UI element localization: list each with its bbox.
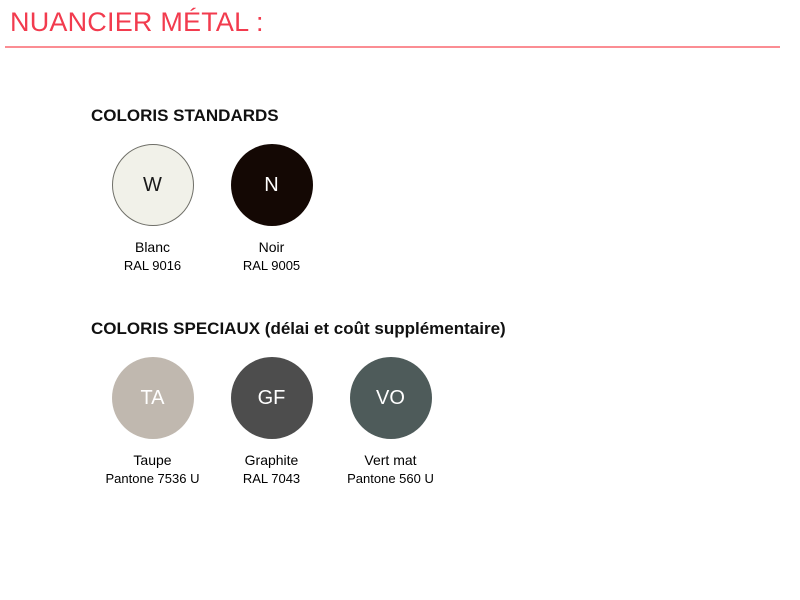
swatch-reference: RAL 9016 xyxy=(124,258,181,274)
page-header: NUANCIER MÉTAL : xyxy=(0,0,800,50)
swatch-disc: VO xyxy=(350,357,432,439)
swatch-reference: RAL 7043 xyxy=(243,471,300,487)
swatch-disc: GF xyxy=(231,357,313,439)
swatch-code-letter: TA xyxy=(140,388,164,408)
section-coloris-standards: COLORIS STANDARDS WBlancRAL 9016NNoirRAL… xyxy=(0,105,800,274)
swatch-disc: N xyxy=(231,144,313,226)
color-swatch[interactable]: VOVert matPantone 560 U xyxy=(331,357,450,487)
swatch-code-letter: N xyxy=(264,175,278,195)
swatch-reference: Pantone 560 U xyxy=(347,471,434,487)
swatch-disc: TA xyxy=(112,357,194,439)
color-swatch[interactable]: GFGraphiteRAL 7043 xyxy=(212,357,331,487)
section-heading-standards: COLORIS STANDARDS xyxy=(91,105,800,127)
swatch-name: Graphite xyxy=(245,452,299,469)
section-heading-speciaux: COLORIS SPECIAUX (délai et coût suppléme… xyxy=(91,318,800,340)
page-title: NUANCIER MÉTAL : xyxy=(10,5,264,39)
swatch-code-letter: W xyxy=(143,175,162,195)
color-swatch[interactable]: TATaupePantone 7536 U xyxy=(93,357,212,487)
swatch-name: Blanc xyxy=(135,239,170,256)
swatch-name: Noir xyxy=(259,239,285,256)
swatch-code-letter: GF xyxy=(258,388,286,408)
title-divider xyxy=(5,46,780,48)
swatch-row-speciaux: TATaupePantone 7536 UGFGraphiteRAL 7043V… xyxy=(0,357,800,487)
swatch-reference: Pantone 7536 U xyxy=(106,471,200,487)
swatch-code-letter: VO xyxy=(376,388,405,408)
color-swatch[interactable]: NNoirRAL 9005 xyxy=(212,144,331,274)
swatch-row-standards: WBlancRAL 9016NNoirRAL 9005 xyxy=(0,144,800,274)
swatch-name: Taupe xyxy=(133,452,171,469)
swatch-reference: RAL 9005 xyxy=(243,258,300,274)
swatch-disc: W xyxy=(112,144,194,226)
section-coloris-speciaux: COLORIS SPECIAUX (délai et coût suppléme… xyxy=(0,318,800,487)
color-swatch[interactable]: WBlancRAL 9016 xyxy=(93,144,212,274)
swatch-name: Vert mat xyxy=(364,452,416,469)
